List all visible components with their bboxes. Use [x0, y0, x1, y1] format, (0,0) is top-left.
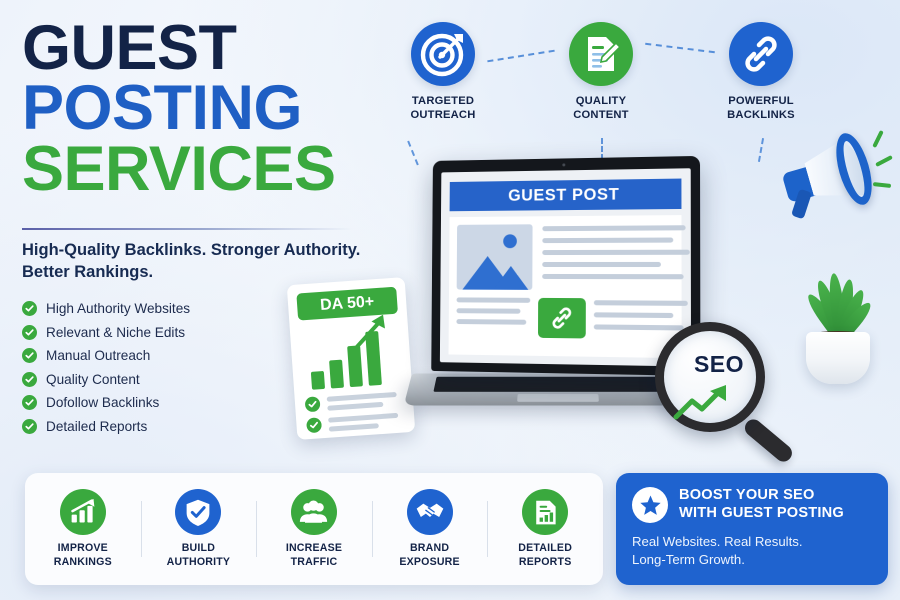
- list-item: Dofollow Backlinks: [22, 391, 190, 415]
- list-item-label: Quality Content: [46, 372, 140, 387]
- seo-label: SEO: [664, 351, 774, 378]
- upward-trend-arrow-icon: [672, 383, 748, 423]
- screen-body: [449, 215, 682, 358]
- feature-improve-rankings[interactable]: IMPROVERANKINGS: [25, 489, 141, 569]
- feature-strip: IMPROVERANKINGS BUILDAUTHORITY: [25, 473, 603, 585]
- step-label: QUALITYCONTENT: [565, 94, 637, 122]
- list-item-label: Detailed Reports: [46, 419, 147, 434]
- headline-line-3: SERVICES: [22, 139, 422, 199]
- connector-dash: [487, 50, 554, 63]
- list-item: Detailed Reports: [22, 415, 190, 439]
- headline-line-1: GUEST: [22, 18, 422, 78]
- feature-label: INCREASETRAFFIC: [256, 542, 372, 569]
- step-label: TARGETEDOUTREACH: [407, 94, 479, 122]
- megaphone-icon: [782, 128, 892, 238]
- screen-title-bar: GUEST POST: [450, 179, 682, 212]
- headline-line-2: POSTING: [22, 78, 422, 138]
- magnifying-glass-icon: SEO: [655, 322, 765, 432]
- step-label: POWERFULBACKLINKS: [725, 94, 797, 122]
- people-group-icon: [291, 489, 337, 535]
- check-circle-icon: [306, 417, 322, 433]
- bar-chart-arrow-icon: [60, 489, 106, 535]
- subheading: High-Quality Backlinks. Stronger Authori…: [22, 240, 412, 284]
- step-targeted-outreach[interactable]: TARGETEDOUTREACH: [407, 22, 479, 122]
- seo-magnifier: SEO: [655, 322, 780, 447]
- check-circle-icon: [22, 348, 37, 363]
- laptop-trackpad: [517, 394, 599, 402]
- cta-panel[interactable]: BOOST YOUR SEOWITH GUEST POSTING Real We…: [616, 473, 888, 585]
- list-item: Quality Content: [22, 368, 190, 392]
- check-circle-icon: [22, 395, 37, 410]
- laptop-keyboard: [433, 377, 682, 392]
- handshake-icon: [407, 489, 453, 535]
- check-circle-icon: [305, 396, 321, 412]
- connector-dash: [758, 138, 764, 162]
- feature-brand-exposure[interactable]: BRANDEXPOSURE: [372, 489, 488, 569]
- shield-check-icon: [175, 489, 221, 535]
- webcam-icon: [562, 163, 565, 166]
- feature-increase-traffic[interactable]: INCREASETRAFFIC: [256, 489, 372, 569]
- potted-plant-icon: [788, 252, 888, 384]
- feature-label: BUILDAUTHORITY: [141, 542, 257, 569]
- laptop-screen: GUEST POST: [440, 168, 691, 366]
- title-divider: [22, 228, 352, 230]
- star-badge-icon: [632, 487, 668, 523]
- feature-label: DETAILEDREPORTS: [487, 542, 603, 569]
- step-powerful-backlinks[interactable]: POWERFULBACKLINKS: [725, 22, 797, 122]
- check-circle-icon: [22, 372, 37, 387]
- poster-canvas: GUEST POSTING SERVICES High-Quality Back…: [0, 0, 900, 600]
- cta-heading: BOOST YOUR SEOWITH GUEST POSTING: [679, 487, 844, 523]
- growth-bar-chart-icon: [306, 326, 398, 390]
- feature-label: IMPROVERANKINGS: [25, 542, 141, 569]
- list-item-label: Dofollow Backlinks: [46, 395, 159, 410]
- connector-dash: [601, 138, 603, 160]
- da-score-card: DA 50+: [287, 277, 416, 440]
- benefits-list: High Authority Websites Relevant & Niche…: [22, 297, 190, 438]
- list-item: Manual Outreach: [22, 344, 190, 368]
- image-placeholder-icon: [457, 224, 533, 290]
- list-item: High Authority Websites: [22, 297, 190, 321]
- step-quality-content[interactable]: QUALITYCONTENT: [565, 22, 637, 122]
- report-document-icon: [522, 489, 568, 535]
- check-circle-icon: [22, 301, 37, 316]
- list-item-label: Relevant & Niche Edits: [46, 325, 185, 340]
- check-circle-icon: [22, 419, 37, 434]
- target-dartboard-icon: [411, 22, 475, 86]
- feature-label: BRANDEXPOSURE: [372, 542, 488, 569]
- cta-subtext: Real Websites. Real Results.Long-Term Gr…: [632, 533, 872, 568]
- magnifier-handle: [742, 416, 796, 465]
- list-item-label: Manual Outreach: [46, 348, 150, 363]
- document-pencil-icon: [569, 22, 633, 86]
- check-circle-icon: [22, 325, 37, 340]
- page-title: GUEST POSTING SERVICES: [22, 18, 422, 199]
- list-item: Relevant & Niche Edits: [22, 321, 190, 345]
- feature-build-authority[interactable]: BUILDAUTHORITY: [141, 489, 257, 569]
- list-item-label: High Authority Websites: [46, 301, 190, 316]
- connector-dash: [645, 43, 715, 54]
- chain-link-icon: [729, 22, 793, 86]
- feature-detailed-reports[interactable]: DETAILEDREPORTS: [487, 489, 603, 569]
- chain-link-icon: [538, 298, 586, 339]
